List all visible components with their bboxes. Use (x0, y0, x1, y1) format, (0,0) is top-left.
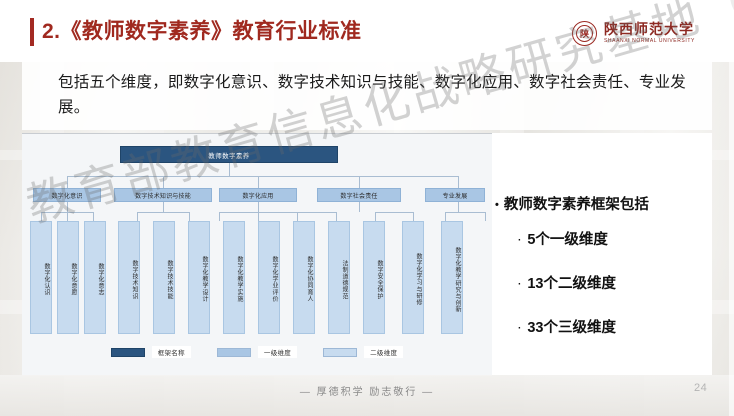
connector (458, 176, 459, 188)
sub-bullet-icon: · (518, 275, 521, 295)
connector (359, 176, 360, 188)
legend-label: 框架名称 (152, 346, 191, 358)
connector (258, 176, 259, 188)
diagram-level2-node: 数字化协同育人 (293, 221, 315, 334)
diagram-level1-node: 数字化意识 (33, 188, 101, 202)
summary-panel: • 教师数字素养框架包括 · 5个一级维度 · 13个二级维度 · 33个三级维… (492, 133, 712, 375)
list-item-label: 5个一级维度 (527, 231, 608, 251)
lead-paragraph: 包括五个维度，即数字化意识、数字技术知识与技能、数字化应用、数字社会责任、专业发… (58, 70, 686, 120)
diagram-level2-node: 数字化教学设计 (188, 221, 210, 334)
connector (137, 212, 138, 221)
legend-item: 框架名称 (111, 346, 191, 358)
diagram-level2-node: 数字化意志 (84, 221, 106, 334)
seal-icon (572, 21, 597, 46)
legend-swatch (323, 348, 357, 357)
bullet-icon: • (495, 195, 499, 215)
connector (445, 212, 485, 213)
legend-item: 一级维度 (217, 346, 297, 358)
connector (229, 163, 230, 176)
diagram-level2-node: 法制道德规范 (328, 221, 350, 334)
summary-heading: • 教师数字素养框架包括 (495, 195, 711, 215)
connector (336, 212, 337, 221)
legend-item: 二级维度 (323, 346, 403, 358)
diagram-level2-node: 数字技术知识 (118, 221, 140, 334)
list-item: · 5个一级维度 (518, 231, 708, 251)
connector (219, 212, 336, 213)
connector (163, 176, 164, 188)
diagram-level2-node: 数字安全保护 (363, 221, 385, 334)
list-item: · 33个三级维度 (518, 319, 708, 339)
summary-heading-text: 教师数字素养框架包括 (504, 195, 649, 215)
connector (375, 212, 376, 221)
connector (67, 176, 458, 177)
list-item: · 13个二级维度 (518, 275, 708, 295)
university-logo: 陕西师范大学 SHAANXI NORMAL UNIVERSITY (572, 21, 695, 46)
slide: 2.《教师数字素养》教育行业标准 陕西师范大学 SHAANXI NORMAL U… (0, 0, 734, 416)
connector (189, 212, 190, 221)
page-title: 2.《教师数字素养》教育行业标准 (42, 17, 362, 47)
right-edge-highlight (729, 0, 734, 416)
connector (258, 202, 259, 212)
title-accent-bar (30, 18, 34, 46)
page-number: 24 (694, 382, 707, 394)
university-name-en: SHAANXI NORMAL UNIVERSITY (604, 38, 695, 45)
connector (258, 212, 259, 221)
connector (219, 212, 220, 221)
connector (297, 212, 298, 221)
connector (137, 212, 189, 213)
connector (458, 202, 459, 212)
legend-label: 一级维度 (258, 346, 297, 358)
diagram-level2-node: 数字化意愿 (57, 221, 79, 334)
legend-swatch (217, 348, 251, 357)
diagram-level1-node: 数字技术知识与技能 (114, 188, 212, 202)
connector (413, 212, 414, 221)
diagram-level1-node: 专业发展 (425, 188, 485, 202)
diagram-level2-node: 数字化学业评价 (258, 221, 280, 334)
diagram-level1-node: 数字社会责任 (317, 188, 401, 202)
connector (67, 202, 68, 212)
framework-diagram: 教师数字素养 数字化意识 数字技术知识与技能 数字化应用 数字社会责任 专业发展 (22, 133, 492, 376)
list-item-label: 33个三级维度 (527, 319, 616, 339)
diagram-level2-node: 数字技术技能 (153, 221, 175, 334)
list-item-label: 13个二级维度 (527, 275, 616, 295)
summary-list: · 5个一级维度 · 13个二级维度 · 33个三级维度 (518, 231, 708, 363)
sub-bullet-icon: · (518, 319, 521, 339)
diagram-root-node: 教师数字素养 (120, 146, 338, 163)
connector (485, 212, 486, 221)
university-name-cn: 陕西师范大学 (604, 22, 695, 37)
diagram-level2-node: 数字化教学实施 (223, 221, 245, 334)
legend-label: 二级维度 (364, 346, 403, 358)
connector (67, 212, 68, 221)
diagram-legend: 框架名称 一级维度 二级维度 (22, 346, 492, 358)
diagram-level2-node: 数字化学习与研修 (402, 221, 424, 334)
diagram-level2-node: 数字化认识 (30, 221, 52, 334)
sub-bullet-icon: · (518, 231, 521, 251)
connector (67, 176, 68, 188)
connector (375, 212, 413, 213)
legend-swatch (111, 348, 145, 357)
diagram-level1-node: 数字化应用 (219, 188, 297, 202)
connector (163, 202, 164, 212)
connector (93, 212, 94, 221)
diagram-canvas: 教师数字素养 数字化意识 数字技术知识与技能 数字化应用 数字社会责任 专业发展 (22, 134, 492, 376)
diagram-level2-node: 数字化教学研究与创新 (441, 221, 463, 334)
footer-motto: — 厚德积学 励志敬行 — (0, 383, 734, 398)
connector (41, 212, 42, 221)
connector (445, 212, 446, 221)
connector (359, 202, 360, 212)
